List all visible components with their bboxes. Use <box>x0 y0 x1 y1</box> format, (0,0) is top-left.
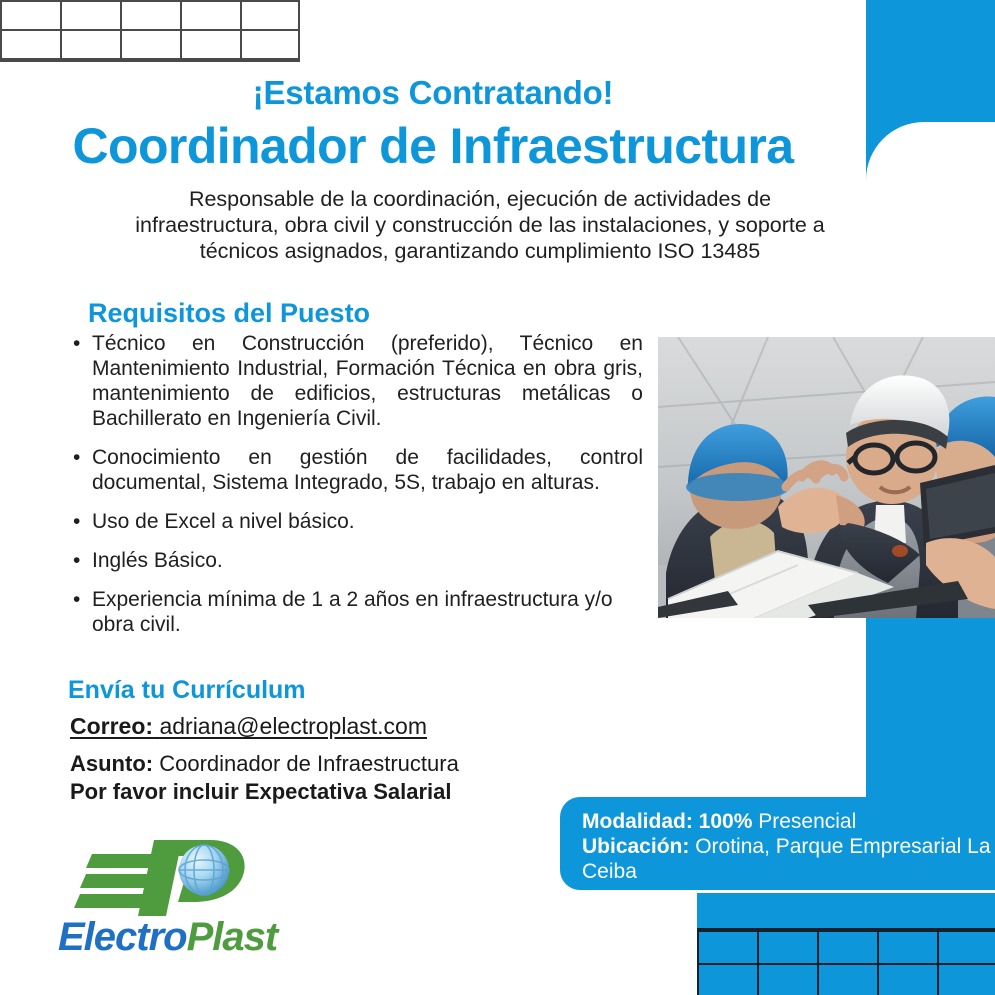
electroplast-logo: ElectroPlast <box>58 838 308 963</box>
requirements-list: • Técnico en Construcción (preferido), T… <box>68 331 643 651</box>
modality-line: Modalidad: 100% Presencial <box>582 809 995 834</box>
list-item: • Técnico en Construcción (preferido), T… <box>68 331 643 431</box>
subject-label: Asunto: <box>70 751 153 776</box>
list-item-text: Técnico en Construcción (preferido), Téc… <box>92 332 643 430</box>
subject-value: Coordinador de Infraestructura <box>159 751 459 776</box>
salary-note: Por favor incluir Expectativa Salarial <box>70 778 459 806</box>
subject-line: Asunto: Coordinador de Infraestructura P… <box>70 750 459 806</box>
location-line: Ubicación: Orotina, Parque Empresarial L… <box>582 834 995 884</box>
list-item-text: Experiencia mínima de 1 a 2 años en infr… <box>92 588 613 636</box>
blue-mid-shape <box>866 618 995 808</box>
bullet-icon: • <box>73 587 80 612</box>
logo-text-plast: Plast <box>187 915 278 959</box>
list-item: • Conocimiento en gestión de facilidades… <box>68 445 643 495</box>
hiring-kicker: ¡Estamos Contratando! <box>0 74 866 112</box>
ep-monogram-icon <box>58 838 308 916</box>
bullet-icon: • <box>73 548 80 573</box>
logo-text-electro: Electro <box>58 915 187 959</box>
bullet-icon: • <box>73 445 80 470</box>
list-item-text: Conocimiento en gestión de facilidades, … <box>92 446 643 494</box>
list-item-text: Inglés Básico. <box>92 549 223 572</box>
blue-notch-cutout <box>866 122 995 342</box>
job-details-box: Modalidad: 100% Presencial Ubicación: Or… <box>560 797 995 890</box>
decorative-grid-top-left <box>0 0 300 62</box>
location-label: Ubicación: <box>582 835 689 858</box>
modality-label: Modalidad: 100% <box>582 810 752 833</box>
email-label: Correo: <box>70 713 153 739</box>
job-posting-poster: ¡Estamos Contratando! Coordinador de Inf… <box>0 0 995 995</box>
cv-section-heading: Envía tu Currículum <box>68 676 306 705</box>
list-item: • Uso de Excel a nivel básico. <box>68 509 643 534</box>
email-line: Correo: adriana@electroplast.com <box>70 713 427 740</box>
construction-workers-photo <box>658 337 995 618</box>
job-description: Responsable de la coordinación, ejecució… <box>120 186 840 264</box>
decorative-grid-bottom-right <box>697 928 995 995</box>
email-value[interactable]: adriana@electroplast.com <box>159 713 427 739</box>
bullet-icon: • <box>73 509 80 534</box>
list-item-text: Uso de Excel a nivel básico. <box>92 510 355 533</box>
requirements-heading: Requisitos del Puesto <box>88 298 370 329</box>
modality-value: Presencial <box>758 810 856 833</box>
logo-wordmark: ElectroPlast <box>58 915 277 960</box>
page-title: Coordinador de Infraestructura <box>0 117 866 175</box>
bullet-icon: • <box>73 331 80 356</box>
list-item: • Inglés Básico. <box>68 548 643 573</box>
list-item: • Experiencia mínima de 1 a 2 años en in… <box>68 587 643 637</box>
